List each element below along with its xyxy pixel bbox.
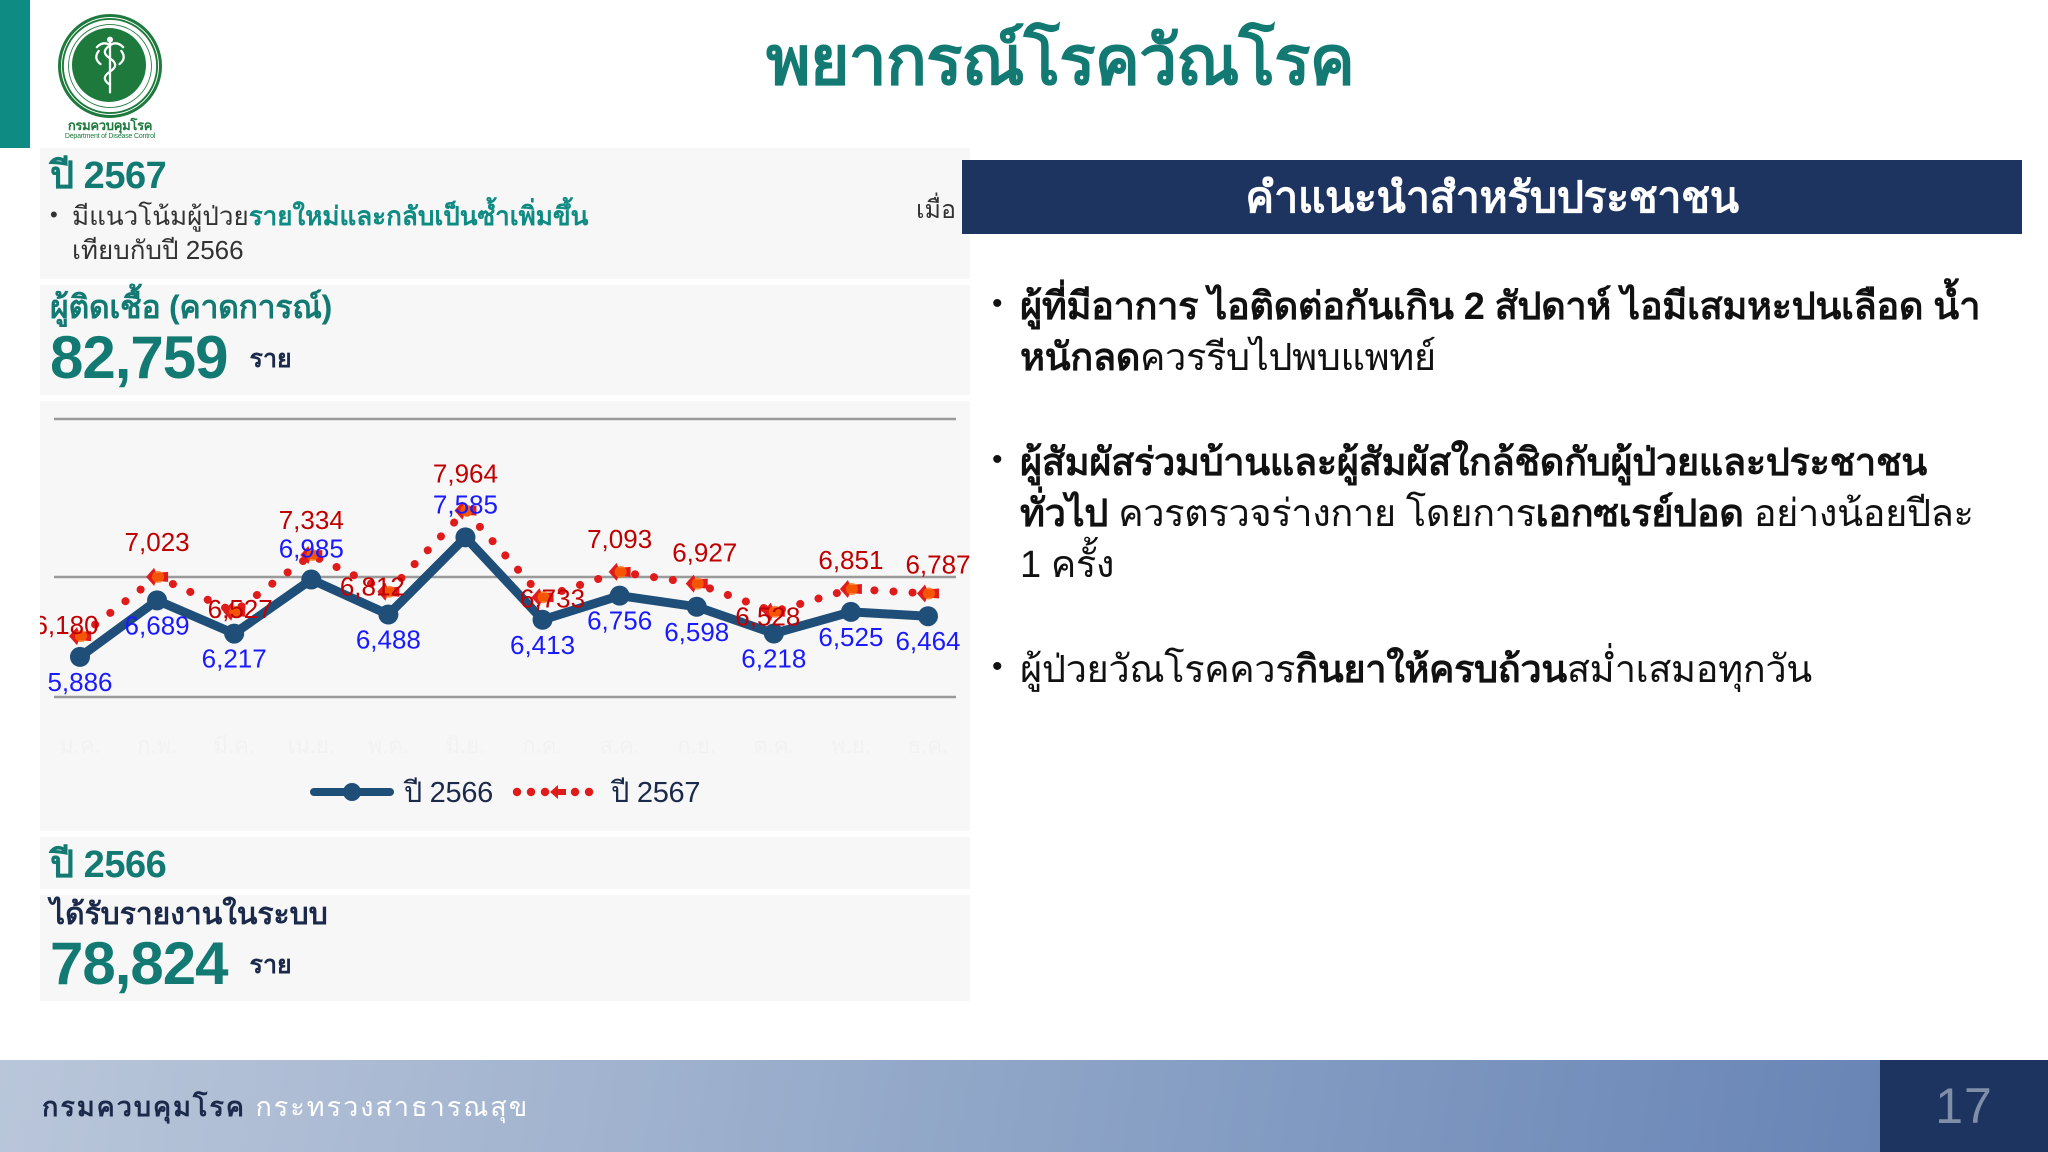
legend-label-2566: ปี 2566: [404, 769, 493, 815]
x-axis-tick-label: ต.ค.: [753, 733, 794, 758]
bullet-dot-icon: •: [992, 438, 1020, 482]
recommendations-header-text: คำแนะนำสำหรับประชาชน: [1245, 163, 1738, 231]
data-label-2567: 6,927: [672, 537, 737, 567]
data-label-2567: 7,964: [433, 458, 498, 488]
page-number-box: 17: [1880, 1060, 2048, 1152]
x-axis-tick-label: มิ.ย.: [446, 733, 486, 758]
x-axis-tick-label: ธ.ค.: [908, 733, 948, 758]
teal-accent-bar: [0, 0, 30, 148]
recommendation-item: •ผู้สัมผัสร่วมบ้านและผู้สัมผัสใกล้ชิดกับ…: [992, 438, 2000, 591]
data-label-2566: 6,985: [279, 533, 344, 563]
data-label-2567: 6,527: [208, 593, 273, 623]
slide-root: กรมควบคุมโรค Department of Disease Contr…: [0, 0, 2048, 1152]
x-axis-tick-label: พ.ย.: [831, 733, 871, 758]
footer-ministry: กระทรวงสาธารณสุข: [255, 1092, 529, 1122]
data-label-2566: 6,464: [895, 626, 960, 656]
recommendation-segment: สม่ำเสมอทุกวัน: [1567, 649, 1812, 691]
reported-card: ได้รับรายงานในระบบ 78,824 ราย: [40, 895, 970, 1000]
trend-bold: รายใหม่และกลับเป็นซ้ำเพิ่มขึ้น: [249, 201, 589, 231]
legend-dotted-line-icon: [509, 778, 601, 806]
data-label-2566: 6,217: [202, 643, 267, 673]
data-point-2566: [147, 590, 167, 610]
moph-logo: กรมควบคุมโรค Department of Disease Contr…: [46, 14, 174, 142]
forecast-card: ผู้ติดเชื้อ (คาดการณ์) 82,759 ราย: [40, 285, 970, 394]
data-label-2567: 6,528: [735, 601, 800, 631]
year-2567-heading: ปี 2567: [50, 154, 960, 199]
x-axis-tick-label: ส.ค.: [599, 733, 639, 758]
recommendations-header: คำแนะนำสำหรับประชาชน: [962, 160, 2022, 234]
data-point-2567-core: [923, 587, 935, 599]
data-point-2567-core: [692, 577, 704, 589]
recommendation-segment: ควรรีบไปพบแพทย์: [1140, 337, 1436, 379]
data-label-2566: 6,689: [125, 610, 190, 640]
footer-text: กรมควบคุมโรค กระทรวงสาธารณสุข: [42, 1085, 529, 1128]
chart-legend: ปี 2566 ปี 2567: [40, 769, 970, 815]
x-axis-tick-label: ก.ย.: [678, 733, 716, 758]
recommendation-segment: ควรตรวจร่างกาย โดยการ: [1118, 493, 1535, 535]
logo-name-en: Department of Disease Control: [46, 133, 174, 140]
page-number: 17: [1935, 1077, 1993, 1135]
data-label-2567: 7,334: [279, 505, 344, 535]
data-point-2566: [687, 596, 707, 616]
footer-bar: กรมควบคุมโรค กระทรวงสาธารณสุข 17: [0, 1060, 2048, 1152]
chart-canvas: 5,8866,6896,2176,9856,4887,5856,4136,756…: [40, 401, 970, 831]
data-label-2567: 6,733: [520, 583, 585, 613]
data-point-2567-core: [615, 566, 627, 578]
data-label-2566: 6,756: [587, 605, 652, 635]
data-label-2566: 7,585: [433, 489, 498, 519]
year-2566-card: ปี 2566: [40, 837, 970, 890]
recommendation-item: •ผู้ป่วยวัณโรคควรกินยาให้ครบถ้วนสม่ำเสมอ…: [992, 645, 2000, 696]
x-axis-tick-label: ก.พ.: [137, 733, 177, 758]
legend-item-2567: ปี 2567: [509, 769, 700, 815]
data-point-2566: [378, 604, 398, 624]
data-label-2566: 5,886: [47, 667, 112, 697]
reported-value: 78,824: [50, 933, 228, 994]
data-label-2567: 6,787: [905, 549, 970, 579]
tb-forecast-chart: 5,8866,6896,2176,9856,4887,5856,4136,756…: [40, 401, 970, 831]
caduceus-icon: [61, 17, 159, 115]
recommendation-segment: ผู้ป่วยวัณโรคควร: [1020, 649, 1295, 691]
trend-plain-2: เทียบกับปี 2566: [72, 235, 244, 265]
x-axis-tick-label: ก.ค.: [522, 733, 562, 758]
reported-unit: ราย: [250, 945, 292, 995]
data-point-2566: [610, 585, 630, 605]
forecast-label: ผู้ติดเชื้อ (คาดการณ์): [50, 287, 960, 327]
data-point-2566: [301, 569, 321, 589]
data-label-2567: 7,093: [587, 524, 652, 554]
recommendation-text: ผู้ป่วยวัณโรคควรกินยาให้ครบถ้วนสม่ำเสมอท…: [1020, 645, 2000, 696]
bullet-dot-icon: •: [992, 282, 1020, 326]
trend-bullet: • มีแนวโน้มผู้ป่วยรายใหม่และกลับเป็นซ้ำเ…: [50, 199, 960, 268]
x-axis-tick-label: มี.ค.: [213, 733, 254, 758]
data-label-2566: 6,525: [818, 622, 883, 652]
reported-value-row: 78,824 ราย: [50, 933, 960, 994]
x-axis-tick-label: พ.ค.: [368, 733, 409, 758]
recommendation-item: •ผู้ที่มีอาการ ไอติดต่อกันเกิน 2 สัปดาห์…: [992, 282, 2000, 384]
legend-label-2567: ปี 2567: [611, 769, 700, 815]
recommendations-panel: คำแนะนำสำหรับประชาชน •ผู้ที่มีอาการ ไอติ…: [962, 160, 2022, 749]
data-label-2566: 6,413: [510, 629, 575, 659]
x-axis-tick-label: เม.ย.: [288, 733, 335, 758]
data-point-2566: [918, 606, 938, 626]
data-point-2567-core: [152, 571, 164, 583]
reported-label: ได้รับรายงานในระบบ: [50, 897, 960, 933]
data-label-2566: 6,488: [356, 624, 421, 654]
trend-text: มีแนวโน้มผู้ป่วยรายใหม่และกลับเป็นซ้ำเพิ…: [72, 199, 960, 268]
recommendations-list: •ผู้ที่มีอาการ ไอติดต่อกันเกิน 2 สัปดาห์…: [962, 234, 2022, 695]
logo-name-th: กรมควบคุมโรค: [46, 119, 174, 133]
bullet-dot-icon: •: [50, 199, 72, 231]
forecast-value-row: 82,759 ราย: [50, 327, 960, 388]
data-point-2566: [70, 647, 90, 667]
trend-plain-1: มีแนวโน้มผู้ป่วย: [72, 201, 249, 231]
data-label-2567: 6,180: [40, 610, 99, 640]
data-label-2567: 6,851: [818, 545, 883, 575]
left-column: ปี 2567 • มีแนวโน้มผู้ป่วยรายใหม่และกลับ…: [40, 148, 970, 1048]
year-2567-card: ปี 2567 • มีแนวโน้มผู้ป่วยรายใหม่และกลับ…: [40, 148, 970, 279]
year-2566-heading: ปี 2566: [50, 843, 960, 888]
recommendation-segment: กินยาให้ครบถ้วน: [1295, 649, 1567, 691]
data-point-2566: [224, 623, 244, 643]
legend-solid-line-icon: [310, 778, 394, 806]
caduceus-seal-icon: [58, 14, 162, 118]
recommendation-text: ผู้ที่มีอาการ ไอติดต่อกันเกิน 2 สัปดาห์ …: [1020, 282, 2000, 384]
data-label-2566: 6,218: [741, 643, 806, 673]
legend-item-2566: ปี 2566: [310, 769, 493, 815]
footer-department: กรมควบคุมโรค: [42, 1092, 246, 1122]
data-label-2566: 6,598: [664, 616, 729, 646]
note-right: เมื่อ: [916, 190, 956, 230]
forecast-value: 82,759: [50, 327, 228, 388]
page-title: พยากรณ์โรควัณโรค: [560, 22, 1560, 100]
data-point-2567-core: [846, 583, 858, 595]
forecast-unit: ราย: [250, 339, 292, 389]
recommendation-text: ผู้สัมผัสร่วมบ้านและผู้สัมผัสใกล้ชิดกับผ…: [1020, 438, 2000, 591]
x-axis-tick-label: ม.ค.: [59, 733, 100, 758]
data-label-2567: 7,023: [125, 527, 190, 557]
data-point-2566: [455, 527, 475, 547]
data-point-2566: [841, 602, 861, 622]
bullet-dot-icon: •: [992, 645, 1020, 689]
data-label-2567: 6,812: [340, 571, 405, 601]
recommendation-segment: เอกซเรย์ปอด: [1536, 493, 1754, 535]
